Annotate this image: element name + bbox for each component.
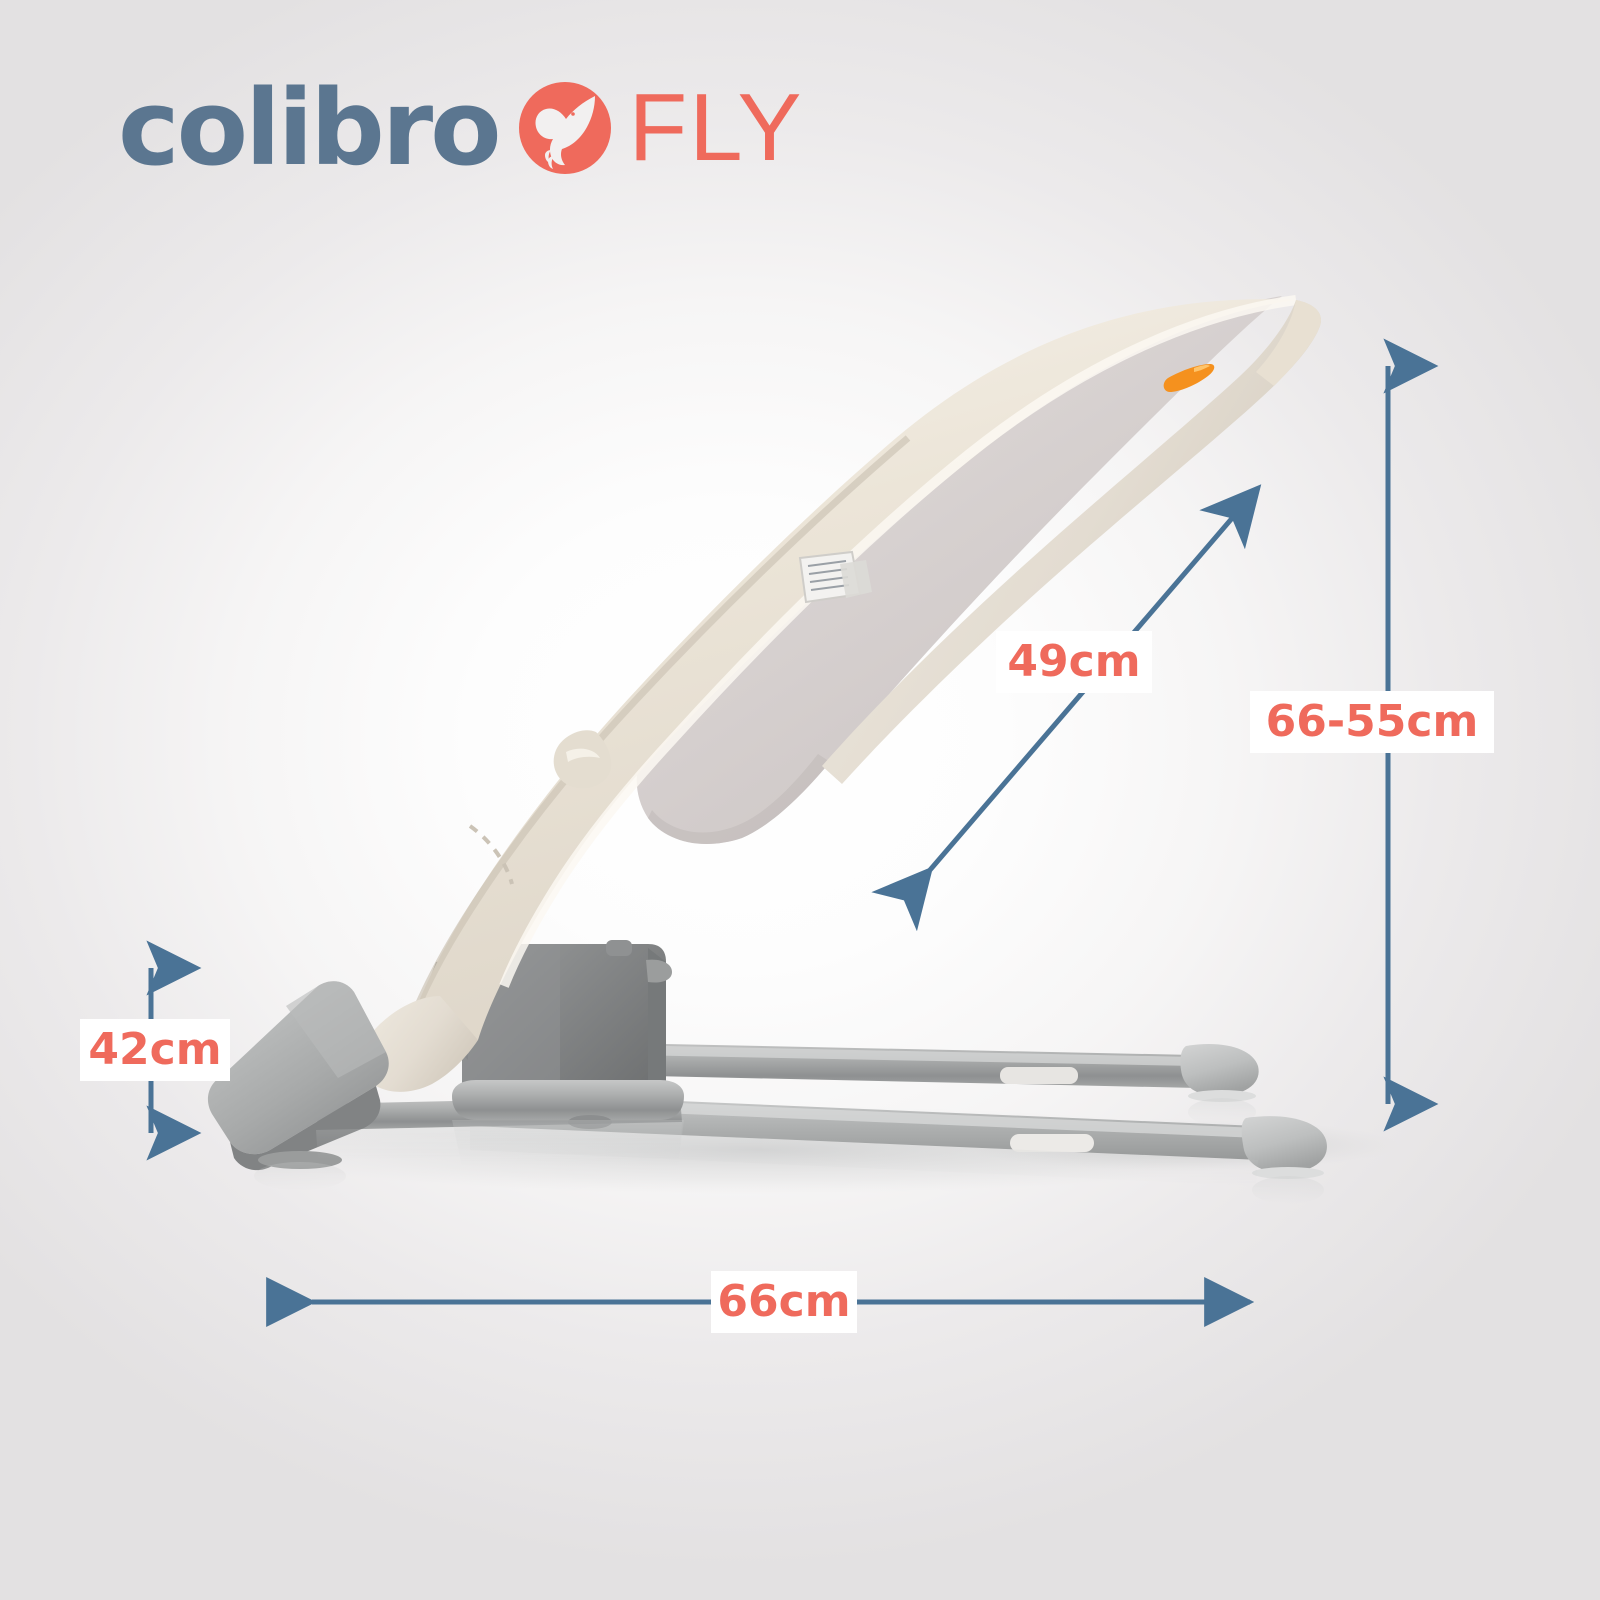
dimension-overlay	[0, 0, 1600, 1600]
dimension-label-height-range: 66-55cm	[1250, 691, 1494, 753]
dimension-label-seat-length: 49cm	[996, 631, 1152, 693]
dimension-label-seat-height: 42cm	[80, 1019, 230, 1081]
dimension-label-total-length: 66cm	[711, 1271, 857, 1333]
product-dimension-diagram: colibro FLY	[0, 0, 1600, 1600]
